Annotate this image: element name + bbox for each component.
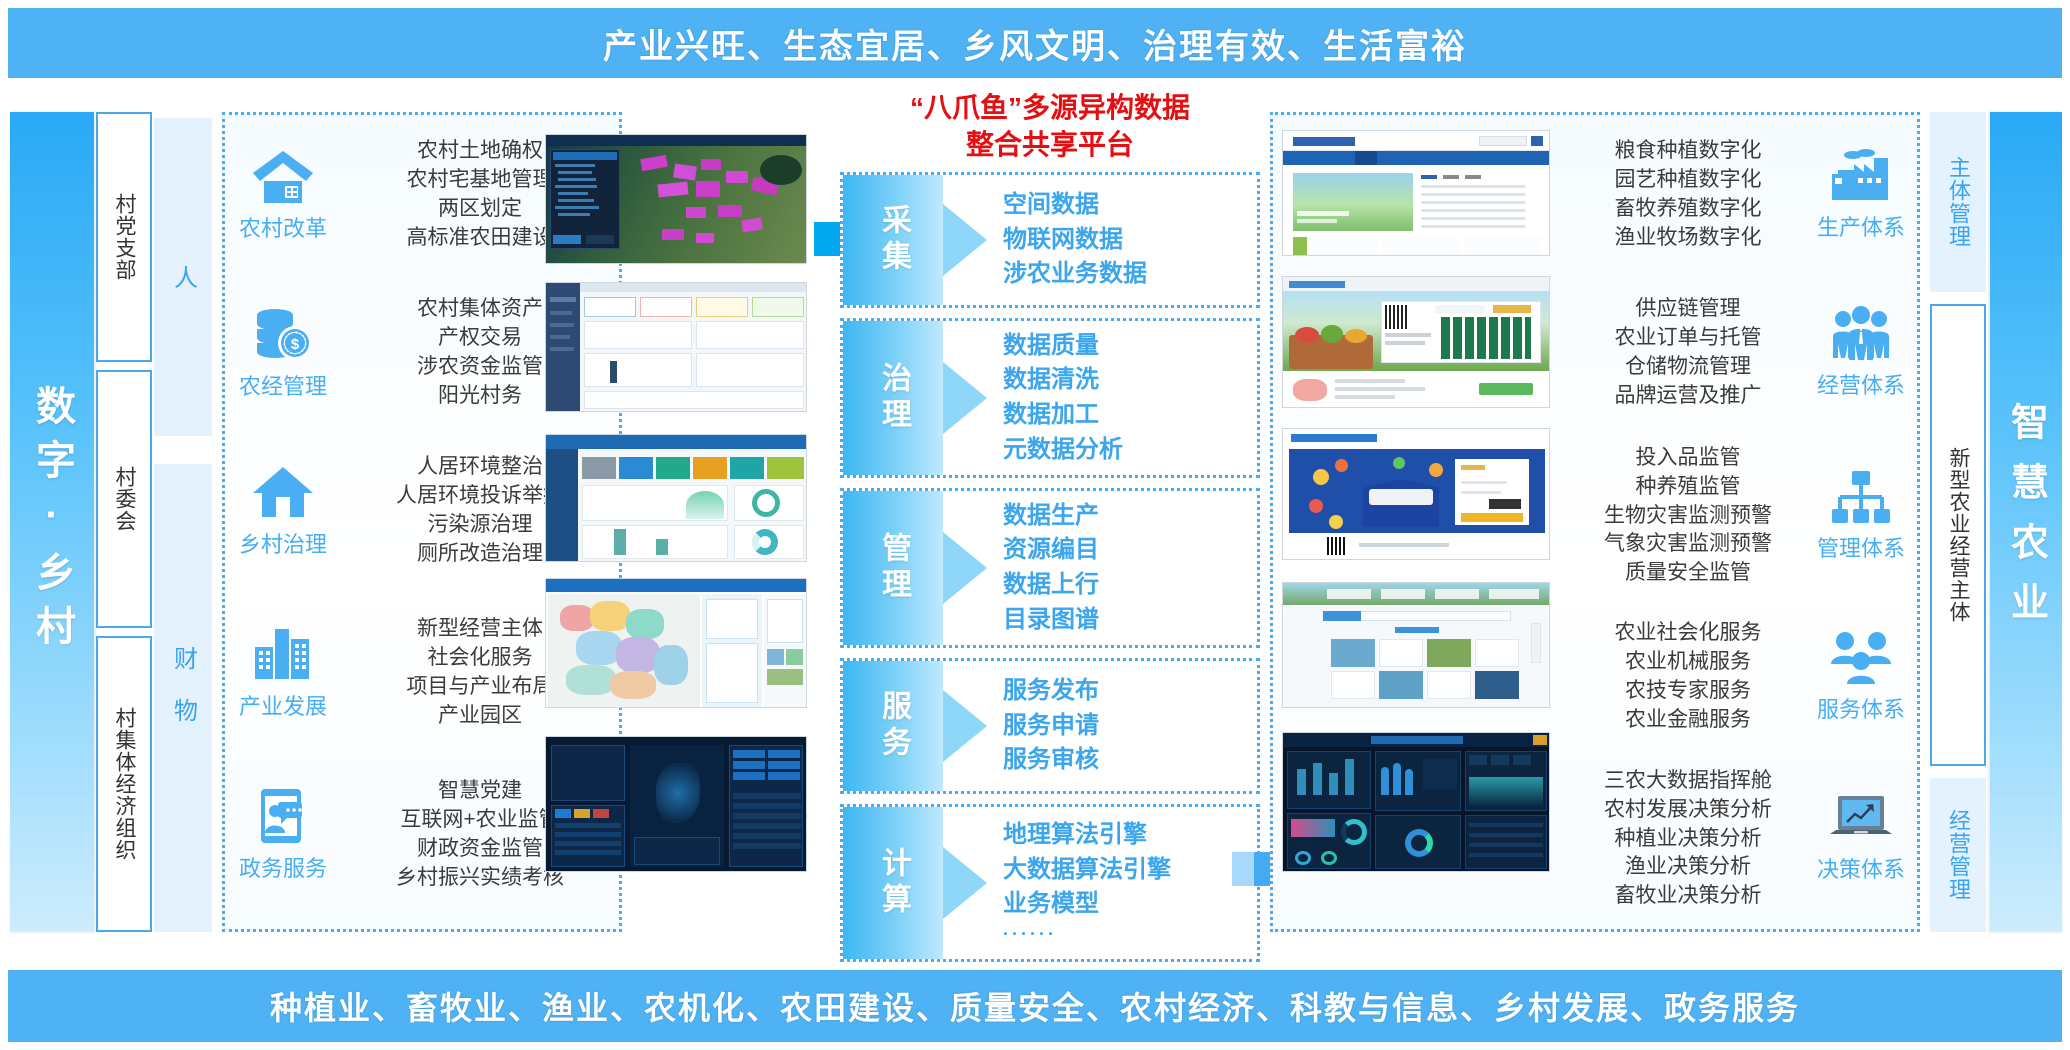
stage-management-items: 数据生产 资源编目 数据上行 目录图谱 xyxy=(1003,491,1249,645)
stage-compute[interactable]: 计算 地理算法引擎 大数据算法引擎 业务模型 ······ xyxy=(840,804,1260,962)
stage-arrow-icon xyxy=(943,690,987,762)
bottom-banner-text: 种植业、畜牧业、渔业、农机化、农田建设、质量安全、农村经济、科教与信息、乡村发展… xyxy=(270,983,1800,1029)
org-box-label: 村委会 xyxy=(109,466,139,532)
bullet: 品牌运营及推广 xyxy=(1575,382,1801,411)
village-governance-icon-wrap: 乡村治理 xyxy=(225,463,341,559)
stage-item: 空间数据 xyxy=(1003,188,1249,223)
stage-item: 资源编目 xyxy=(1003,533,1249,568)
operation-icon-wrap: 经营体系 xyxy=(1801,306,1921,400)
stage-arrow-icon xyxy=(943,362,987,434)
system-bullets: 投入品监管 种养殖监管 生物灾害监测预警 气象灾害监测预警 质量安全监管 xyxy=(1575,444,1801,589)
system-label: 服务体系 xyxy=(1817,692,1905,724)
resource-cell-label: 人 xyxy=(166,265,201,289)
bullet: 渔业牧场数字化 xyxy=(1575,224,1801,253)
stage-item: 目录图谱 xyxy=(1003,603,1249,638)
governance-analytics-screenshot[interactable] xyxy=(545,434,807,562)
stage-item: 元数据分析 xyxy=(1003,433,1249,468)
people-service-icon xyxy=(1829,630,1893,686)
buildings-industry-icon xyxy=(251,625,315,683)
laptop-chart-icon xyxy=(1828,794,1894,846)
resource-cell-finance-goods[interactable]: 财物 xyxy=(154,464,212,932)
bullet: 畜牧养殖数字化 xyxy=(1575,195,1801,224)
stage-service-items: 服务发布 服务申请 服务审核 xyxy=(1003,661,1249,791)
new-agri-entity-label: 新型农业经营主体 xyxy=(1943,447,1973,623)
svg-text:$: $ xyxy=(291,336,300,353)
new-agri-entity-box[interactable]: 新型农业经营主体 xyxy=(1930,304,1986,766)
function-label: 农经管理 xyxy=(239,369,327,401)
bullet: 生物灾害监测预警 xyxy=(1575,502,1801,531)
bullet: 农业机械服务 xyxy=(1575,648,1801,677)
org-box-label: 村集体经济组织 xyxy=(109,707,139,861)
bullet: 农村发展决策分析 xyxy=(1575,796,1801,825)
digital-village-bar: 数字·乡村 xyxy=(10,112,94,932)
bullet: 农业订单与托管 xyxy=(1575,324,1801,353)
dark-command-center-screenshot[interactable] xyxy=(545,736,807,872)
industry-gis-map-screenshot[interactable] xyxy=(545,578,807,708)
bullet: 园艺种植数字化 xyxy=(1575,166,1801,195)
stage-item: 物联网数据 xyxy=(1003,223,1249,258)
stage-arrow-icon xyxy=(943,204,987,276)
service-grid-portal-screenshot[interactable] xyxy=(1282,582,1550,708)
agriculture-portal-screenshot[interactable] xyxy=(1282,130,1550,256)
industry-development-icon-wrap: 产业发展 xyxy=(225,625,341,721)
stage-item: 数据上行 xyxy=(1003,568,1249,603)
stage-item: 大数据算法引擎 xyxy=(1003,853,1249,888)
coins-money-icon: $ xyxy=(251,305,315,363)
mobile-service-icon xyxy=(251,787,315,845)
stage-governance-items: 数据质量 数据清洗 数据加工 元数据分析 xyxy=(1003,321,1249,475)
system-row-service[interactable]: 农业社会化服务 农业机械服务 农技专家服务 农业金融服务 服务体系 xyxy=(1575,611,1921,743)
stage-item: 服务审核 xyxy=(1003,743,1249,778)
system-bullets: 粮食种植数字化 园艺种植数字化 畜牧养殖数字化 渔业牧场数字化 xyxy=(1575,137,1801,253)
octopus-platform-column: “八爪鱼”多源异构数据 整合共享平台 采集 空间数据 物联网数据 涉农业务数据 … xyxy=(840,86,1260,958)
manage-cell-label: 主体管理 xyxy=(1942,156,1974,248)
traceability-platform-screenshot[interactable] xyxy=(1282,276,1550,408)
bullet: 农业社会化服务 xyxy=(1575,619,1801,648)
system-label: 管理体系 xyxy=(1817,531,1905,563)
stage-label: 服务 xyxy=(871,690,915,762)
resource-cell-people[interactable]: 人 xyxy=(154,118,212,436)
service-icon-wrap: 服务体系 xyxy=(1801,630,1921,724)
stage-item: 涉农业务数据 xyxy=(1003,257,1249,292)
rural-reform-icon-wrap: 农村改革 xyxy=(225,147,341,243)
government-service-icon-wrap: 政务服务 xyxy=(225,787,341,883)
stage-label: 计算 xyxy=(871,847,915,919)
system-bullets: 农业社会化服务 农业机械服务 农技专家服务 农业金融服务 xyxy=(1575,619,1801,735)
stage-service-tab: 服务 xyxy=(843,661,943,791)
bullet: 三农大数据指挥舱 xyxy=(1575,767,1801,796)
bullet: 农业金融服务 xyxy=(1575,706,1801,735)
asset-dashboard-screenshot[interactable] xyxy=(545,282,807,412)
system-row-operation[interactable]: 供应链管理 农业订单与托管 仓储物流管理 品牌运营及推广 经营体系 xyxy=(1575,287,1921,419)
bullet: 气象灾害监测预警 xyxy=(1575,530,1801,559)
stage-collect-left-connector xyxy=(814,222,840,256)
stage-arrow-icon xyxy=(943,847,987,919)
stage-management-tab: 管理 xyxy=(843,491,943,645)
system-bullets: 三农大数据指挥舱 农村发展决策分析 种植业决策分析 渔业决策分析 畜牧业决策分析 xyxy=(1575,767,1801,912)
bullet: 种养殖监管 xyxy=(1575,473,1801,502)
platform-title: “八爪鱼”多源异构数据 整合共享平台 xyxy=(840,90,1260,164)
org-box-label: 村党支部 xyxy=(109,193,139,281)
smart-agriculture-label: 智慧农业 xyxy=(1999,402,2054,642)
smart-agriculture-bar: 智慧农业 xyxy=(1990,112,2062,932)
bullet: 质量安全监管 xyxy=(1575,559,1801,588)
org-box-village-committee[interactable]: 村委会 xyxy=(96,370,152,628)
org-box-collective-economy[interactable]: 村集体经济组织 xyxy=(96,636,152,932)
manage-cell-operation[interactable]: 经营管理 xyxy=(1930,778,1986,932)
stage-item: 服务申请 xyxy=(1003,709,1249,744)
bullet: 供应链管理 xyxy=(1575,295,1801,324)
platform-title-line2: 整合共享平台 xyxy=(840,127,1260,164)
stage-governance-tab: 治理 xyxy=(843,321,943,475)
system-bullets: 供应链管理 农业订单与托管 仓储物流管理 品牌运营及推广 xyxy=(1575,295,1801,411)
bullet: 农技专家服务 xyxy=(1575,677,1801,706)
system-row-management[interactable]: 投入品监管 种养殖监管 生物灾害监测预警 气象灾害监测预警 质量安全监管 xyxy=(1575,441,1921,591)
house-reform-icon xyxy=(251,147,315,205)
stage-compute-items: 地理算法引擎 大数据算法引擎 业务模型 ······ xyxy=(1003,807,1249,959)
dark-bigdata-dashboard-screenshot[interactable] xyxy=(1282,732,1550,872)
stage-item: 数据清洗 xyxy=(1003,363,1249,398)
manage-cell-label: 经营管理 xyxy=(1942,809,1974,901)
right-management-column: 主体管理 新型农业经营主体 经营管理 xyxy=(1930,112,1986,932)
stage-collect-tab: 采集 xyxy=(843,175,943,305)
function-label: 产业发展 xyxy=(239,689,327,721)
digital-village-label: 数字·乡村 xyxy=(23,385,81,659)
team-business-icon xyxy=(1829,306,1893,362)
stage-item: 地理算法引擎 xyxy=(1003,818,1249,853)
system-label: 决策体系 xyxy=(1817,852,1905,884)
bullet: 仓储物流管理 xyxy=(1575,353,1801,382)
decision-icon-wrap: 决策体系 xyxy=(1801,794,1921,884)
function-label: 乡村治理 xyxy=(239,527,327,559)
stage-service[interactable]: 服务 服务发布 服务申请 服务审核 xyxy=(840,658,1260,794)
function-label: 政务服务 xyxy=(239,851,327,883)
stage-item: 服务发布 xyxy=(1003,674,1249,709)
stage-collect-items: 空间数据 物联网数据 涉农业务数据 xyxy=(1003,175,1249,305)
stage-item: 数据生产 xyxy=(1003,499,1249,534)
system-label: 生产体系 xyxy=(1817,210,1905,242)
stage-management[interactable]: 管理 数据生产 资源编目 数据上行 目录图谱 xyxy=(840,488,1260,648)
satellite-land-map-screenshot[interactable] xyxy=(545,134,807,264)
factory-production-icon xyxy=(1830,148,1892,204)
stage-item: 业务模型 xyxy=(1003,887,1249,922)
bullet: 投入品监管 xyxy=(1575,444,1801,473)
home-governance-icon xyxy=(251,463,315,521)
stage-arrow-icon xyxy=(943,532,987,604)
manage-cell-subject[interactable]: 主体管理 xyxy=(1930,112,1986,292)
stage-label: 管理 xyxy=(871,532,915,604)
main-stage: 数字·乡村 村党支部 村委会 村集体经济组织 人 财物 xyxy=(0,86,2070,958)
bullet: 渔业决策分析 xyxy=(1575,853,1801,882)
system-row-decision[interactable]: 三农大数据指挥舱 农村发展决策分析 种植业决策分析 渔业决策分析 畜牧业决策分析… xyxy=(1575,763,1921,915)
resource-cell-label: 财物 xyxy=(166,646,201,750)
function-label: 农村改革 xyxy=(239,211,327,243)
bullet: 粮食种植数字化 xyxy=(1575,137,1801,166)
org-chart-icon xyxy=(1830,469,1892,525)
top-banner: 产业兴旺、生态宜居、乡风文明、治理有效、生活富裕 xyxy=(8,8,2062,78)
bullet: 畜牧业决策分析 xyxy=(1575,882,1801,911)
stage-label: 治理 xyxy=(871,362,915,434)
bottom-banner: 种植业、畜牧业、渔业、农机化、农田建设、质量安全、农村经济、科教与信息、乡村发展… xyxy=(8,970,2062,1042)
org-box-party-branch[interactable]: 村党支部 xyxy=(96,112,152,362)
stage-item: ······ xyxy=(1003,922,1249,948)
org-boxes-column: 村党支部 村委会 村集体经济组织 xyxy=(96,112,152,932)
production-icon-wrap: 生产体系 xyxy=(1801,148,1921,242)
stage-compute-tab: 计算 xyxy=(843,807,943,959)
management-icon-wrap: 管理体系 xyxy=(1801,469,1921,563)
top-banner-text: 产业兴旺、生态宜居、乡风文明、治理有效、生活富裕 xyxy=(603,19,1467,68)
stage-collect[interactable]: 采集 空间数据 物联网数据 涉农业务数据 xyxy=(840,172,1260,308)
platform-title-line1: “八爪鱼”多源异构数据 xyxy=(840,90,1260,127)
bullet: 种植业决策分析 xyxy=(1575,825,1801,854)
stage-label: 采集 xyxy=(871,204,915,276)
safety-campaign-screenshot[interactable] xyxy=(1282,428,1550,560)
stage-item: 数据质量 xyxy=(1003,329,1249,364)
system-row-production[interactable]: 粮食种植数字化 园艺种植数字化 畜牧养殖数字化 渔业牧场数字化 xyxy=(1575,129,1921,261)
agri-economy-icon-wrap: $ 农经管理 xyxy=(225,305,341,401)
stage-item: 数据加工 xyxy=(1003,398,1249,433)
system-label: 经营体系 xyxy=(1817,368,1905,400)
resource-column: 人 财物 xyxy=(154,112,212,932)
stage-governance[interactable]: 治理 数据质量 数据清洗 数据加工 元数据分析 xyxy=(840,318,1260,478)
